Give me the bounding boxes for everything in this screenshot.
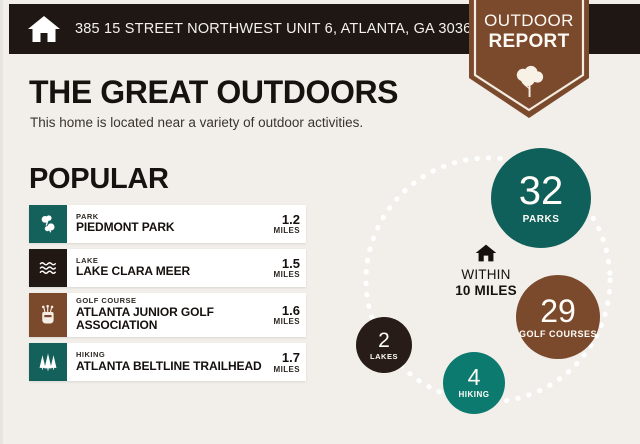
list-item[interactable]: LAKE LAKE CLARA MEER 1.5 MILES <box>29 249 306 287</box>
stat-label: GOLF COURSES <box>519 330 597 339</box>
popular-list: PARK PIEDMONT PARK 1.2 MILES <box>29 205 306 387</box>
park-trees-icon <box>29 205 67 243</box>
list-item-distance: 1.7 MILES <box>268 351 300 374</box>
distance-value: 1.5 <box>274 257 300 271</box>
list-item-name: ATLANTA BELTLINE TRAILHEAD <box>76 360 268 374</box>
distance-unit: MILES <box>274 317 300 326</box>
list-item-body: LAKE LAKE CLARA MEER 1.5 MILES <box>67 249 306 287</box>
stat-label: LAKES <box>370 353 398 361</box>
distance-value: 1.6 <box>274 304 300 318</box>
stat-label: HIKING <box>459 391 490 399</box>
distance-unit: MILES <box>274 226 300 235</box>
list-item-texts: LAKE LAKE CLARA MEER <box>76 257 268 279</box>
badge-text: OUTDOOR REPORT <box>469 12 589 52</box>
badge-line-1: OUTDOOR <box>469 12 589 30</box>
list-item-texts: GOLF COURSE ATLANTA JUNIOR GOLF ASSOCIAT… <box>76 297 268 333</box>
pine-trees-glyph-icon <box>37 351 59 373</box>
list-item[interactable]: PARK PIEDMONT PARK 1.2 MILES <box>29 205 306 243</box>
stat-bubble-golf-courses[interactable]: 29 GOLF COURSES <box>516 275 600 359</box>
summary-diagram: WITHIN 10 MILES 32 PARKS 29 GOLF COURSES… <box>333 140 640 440</box>
list-item-texts: HIKING ATLANTA BELTLINE TRAILHEAD <box>76 351 268 373</box>
golf-bag-glyph-icon <box>37 304 59 326</box>
tree-icon <box>509 62 549 102</box>
badge-line-2: REPORT <box>469 32 589 52</box>
distance-unit: MILES <box>274 365 300 374</box>
home-icon <box>27 14 61 44</box>
list-item-name: ATLANTA JUNIOR GOLF ASSOCIATION <box>76 306 268 334</box>
list-item-body: GOLF COURSE ATLANTA JUNIOR GOLF ASSOCIAT… <box>67 293 306 337</box>
list-item-distance: 1.6 MILES <box>268 304 300 327</box>
list-item-body: HIKING ATLANTA BELTLINE TRAILHEAD 1.7 MI… <box>67 343 306 381</box>
stat-bubble-parks[interactable]: 32 PARKS <box>491 148 591 248</box>
golf-bag-icon <box>29 293 67 337</box>
property-address: 385 15 STREET NORTHWEST UNIT 6, ATLANTA,… <box>75 21 480 37</box>
list-item-texts: PARK PIEDMONT PARK <box>76 213 268 235</box>
distance-value: 1.2 <box>274 213 300 227</box>
list-item[interactable]: HIKING ATLANTA BELTLINE TRAILHEAD 1.7 MI… <box>29 343 306 381</box>
list-item-distance: 1.5 MILES <box>268 257 300 280</box>
list-item-name: LAKE CLARA MEER <box>76 265 268 279</box>
stat-count: 29 <box>540 295 576 327</box>
stat-count: 2 <box>378 330 390 351</box>
outdoor-report-page: 385 15 STREET NORTHWEST UNIT 6, ATLANTA,… <box>0 0 640 444</box>
stat-bubble-lakes[interactable]: 2 LAKES <box>356 317 412 373</box>
list-item-name: PIEDMONT PARK <box>76 221 268 235</box>
list-item-body: PARK PIEDMONT PARK 1.2 MILES <box>67 205 306 243</box>
center-line-1: WITHIN <box>421 267 551 283</box>
distance-value: 1.7 <box>274 351 300 365</box>
water-waves-icon <box>29 249 67 287</box>
pine-trees-icon <box>29 343 67 381</box>
list-item-distance: 1.2 MILES <box>268 213 300 236</box>
water-waves-glyph-icon <box>37 257 59 279</box>
park-trees-glyph-icon <box>37 213 59 235</box>
page-subtitle: This home is located near a variety of o… <box>30 115 363 130</box>
stat-count: 32 <box>519 171 564 211</box>
list-item[interactable]: GOLF COURSE ATLANTA JUNIOR GOLF ASSOCIAT… <box>29 293 306 337</box>
page-title: THE GREAT OUTDOORS <box>29 74 398 111</box>
stat-bubble-hiking[interactable]: 4 HIKING <box>443 352 505 414</box>
outdoor-report-badge: OUTDOOR REPORT <box>469 0 589 118</box>
section-title-popular: POPULAR <box>29 163 169 196</box>
distance-unit: MILES <box>274 270 300 279</box>
stat-count: 4 <box>468 366 481 389</box>
stat-label: PARKS <box>523 215 560 226</box>
home-icon <box>475 243 497 263</box>
